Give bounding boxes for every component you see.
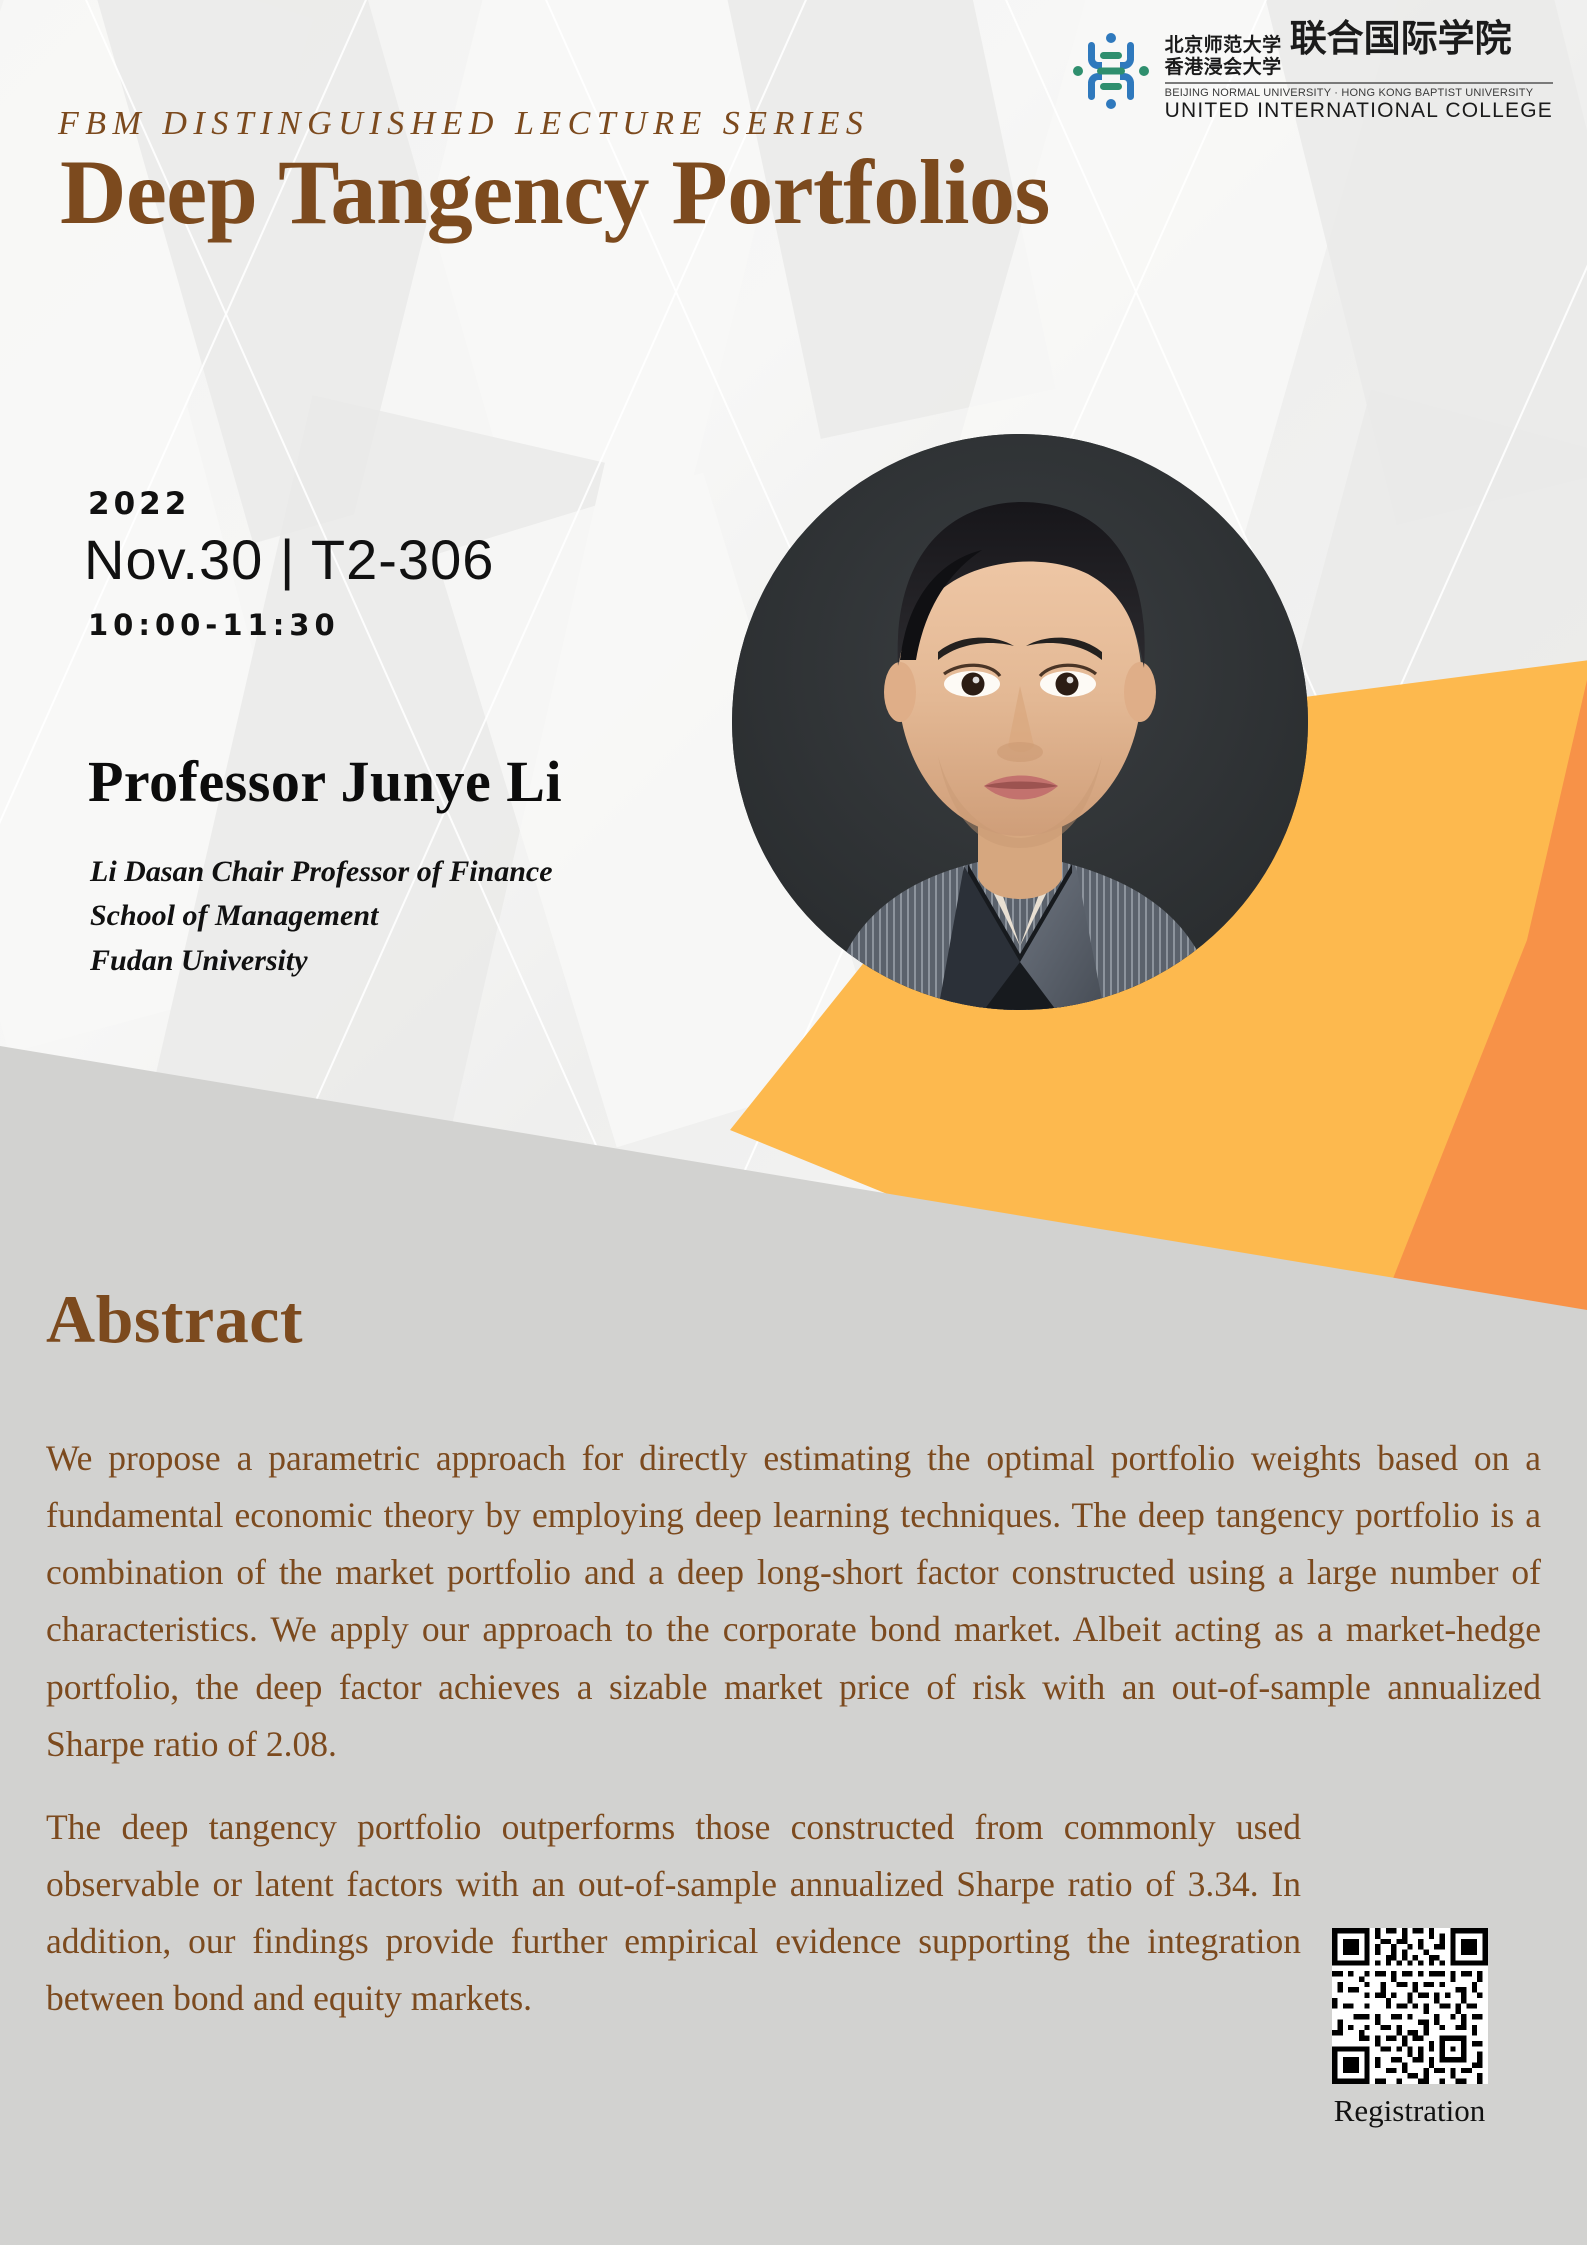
logo-en-line1: BEIJING NORMAL UNIVERSITY · HONG KONG BA… <box>1165 87 1553 99</box>
speaker-affiliation: Li Dasan Chair Professor of Finance Scho… <box>90 850 553 983</box>
abstract-paragraph-1: We propose a parametric approach for dir… <box>46 1430 1541 1773</box>
lecture-series-label: FBM DISTINGUISHED LECTURE SERIES <box>58 105 869 143</box>
abstract-paragraph-2: The deep tangency portfolio outperforms … <box>46 1799 1301 2028</box>
registration-block[interactable]: Registration <box>1322 1928 1497 2129</box>
uic-logo-text: 北京师范大学 香港浸会大学 联合国际学院 BEIJING NORMAL UNIV… <box>1165 20 1553 123</box>
logo-en-line2: UNITED INTERNATIONAL COLLEGE <box>1165 99 1553 123</box>
speaker-portrait <box>732 434 1308 1010</box>
uic-logo: 北京师范大学 香港浸会大学 联合国际学院 BEIJING NORMAL UNIV… <box>1069 20 1553 123</box>
abstract-heading: Abstract <box>46 1280 303 1359</box>
logo-cn-big: 联合国际学院 <box>1290 20 1512 57</box>
logo-divider <box>1165 82 1553 84</box>
uic-logo-mark-icon <box>1069 29 1153 113</box>
page-title: Deep Tangency Portfolios <box>60 142 1050 243</box>
logo-cn-line1: 北京师范大学 <box>1165 35 1282 57</box>
affiliation-line-1: Li Dasan Chair Professor of Finance <box>90 850 553 894</box>
event-time: 10:00-11:30 <box>88 608 340 642</box>
affiliation-line-2: School of Management <box>90 894 553 938</box>
registration-qr-code-icon[interactable] <box>1332 1928 1488 2084</box>
logo-cn-line2: 香港浸会大学 <box>1165 57 1282 79</box>
speaker-name: Professor Junye Li <box>88 748 562 815</box>
poster-root: 北京师范大学 香港浸会大学 联合国际学院 BEIJING NORMAL UNIV… <box>0 0 1587 2245</box>
affiliation-line-3: Fudan University <box>90 939 553 983</box>
registration-label: Registration <box>1322 2093 1497 2129</box>
event-date-venue: Nov.30 | T2-306 <box>84 527 494 592</box>
portrait-image <box>732 434 1308 1010</box>
event-year: 2022 <box>88 486 190 522</box>
abstract-body: We propose a parametric approach for dir… <box>46 1430 1541 2053</box>
